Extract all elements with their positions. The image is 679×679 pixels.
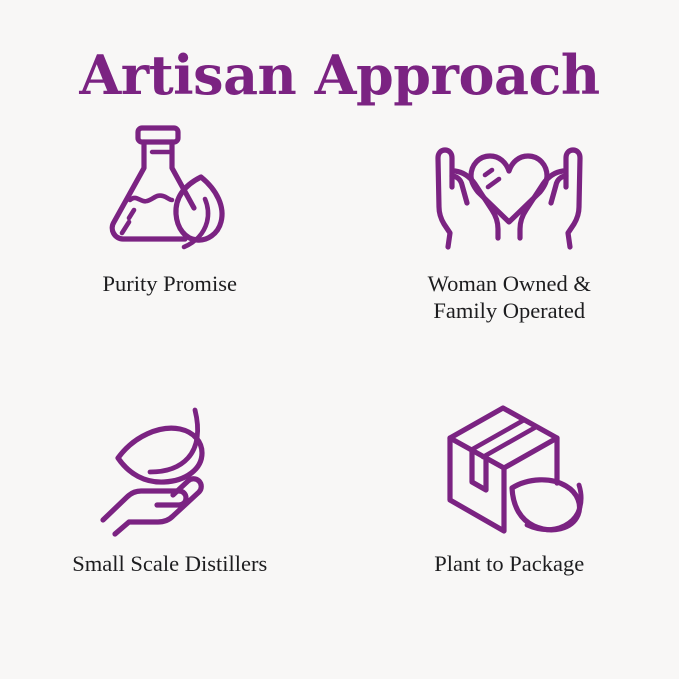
hand-holding-leaf-icon <box>85 400 255 540</box>
feature-label: Plant to Package <box>434 550 584 577</box>
feature-item-purity-promise: Purity Promise <box>0 114 340 383</box>
artisan-approach-panel: Artisan Approach <box>0 0 679 679</box>
feature-label: Small Scale Distillers <box>72 550 267 577</box>
feature-item-small-scale-distillers: Small Scale Distillers <box>0 382 340 651</box>
feature-item-plant-to-package: Plant to Package <box>340 382 679 651</box>
features-grid: Purity Promise <box>0 104 679 679</box>
feature-label: Woman Owned & Family Operated <box>428 270 591 325</box>
hands-holding-heart-icon <box>424 114 594 254</box>
feature-item-woman-owned: Woman Owned & Family Operated <box>340 114 679 383</box>
box-with-leaf-icon <box>424 400 594 540</box>
feature-label: Purity Promise <box>103 270 237 297</box>
flask-with-leaf-icon <box>85 114 255 254</box>
page-title: Artisan Approach <box>79 0 599 104</box>
